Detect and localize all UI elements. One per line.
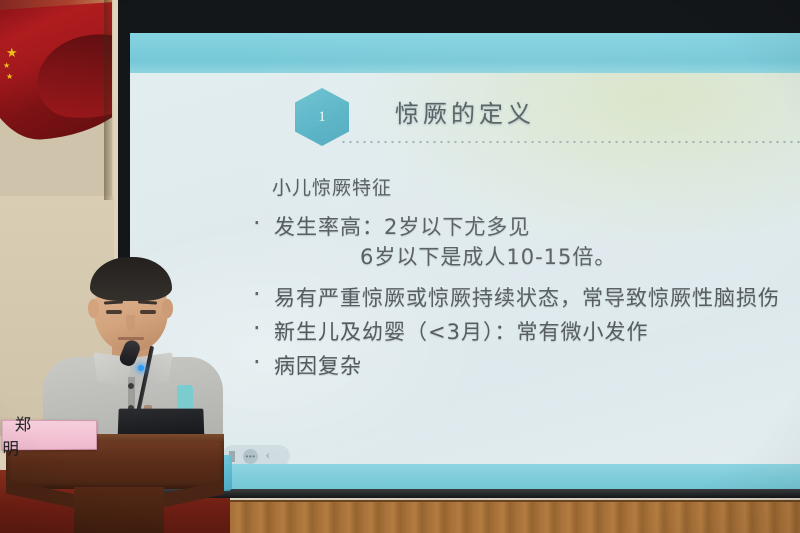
- slide-bullet-4: 病因复杂: [250, 351, 780, 381]
- slide-title: 惊厥的定义: [130, 94, 800, 129]
- slide-bullet-1-text: 发生率高：2岁以下尤多见: [274, 215, 530, 239]
- title-dotted-divider: [340, 140, 800, 144]
- flag-star-small-icon: ★: [6, 73, 13, 81]
- presenter-ear-right: [162, 299, 173, 318]
- slide-bullet-2-text: 易有严重惊厥或惊厥持续状态，常导致惊厥性脑损伤: [274, 286, 780, 310]
- lanyard-badge: [177, 385, 193, 411]
- slide-bullet-1: 发生率高：2岁以下尤多见 6岁以下是成人10-15倍。: [250, 212, 780, 272]
- presenter-nose: [126, 315, 135, 331]
- powerpoint-slide: 1 惊厥的定义 小儿惊厥特征 发生率高：2岁以下尤多见 6岁以下是成人10-15…: [130, 33, 800, 489]
- flag-star-small-icon: ★: [3, 62, 10, 70]
- slide-bullet-1-continuation: 6岁以下是成人10-15倍。: [360, 242, 780, 272]
- presenter-eye-left: [106, 310, 122, 314]
- polo-button-top: [128, 383, 134, 389]
- slide-body: 小儿惊厥特征 发生率高：2岁以下尤多见 6岁以下是成人10-15倍。 易有严重惊…: [250, 173, 780, 385]
- slide-top-band: [130, 33, 800, 73]
- microphone-led-indicator: [138, 365, 144, 371]
- podium-column: [74, 487, 164, 533]
- speaker-nameplate: 郑 明: [1, 420, 97, 451]
- presenter-eye-right: [140, 310, 156, 314]
- slide-bullet-3: 新生儿及幼婴（<3月）：常有微小发作: [250, 317, 780, 347]
- slide-title-row: 1 惊厥的定义: [130, 88, 800, 148]
- presentation-room-photo: ★ ★ ★ 1 惊厥的定义 小儿惊厥特征 发生率高：2岁以下尤多见 6岁以下是成…: [0, 0, 800, 533]
- slide-bullet-4-text: 病因复杂: [274, 354, 362, 378]
- speaker-name-label: 郑 明: [2, 411, 96, 460]
- previous-slide-icon[interactable]: ‹: [266, 450, 270, 462]
- flag-star-large-icon: ★: [6, 46, 18, 59]
- presenter-ear-left: [88, 299, 99, 318]
- slide-lead-text: 小儿惊厥特征: [272, 173, 780, 200]
- chinese-flag-mural: ★ ★ ★: [0, 0, 112, 198]
- presenter-hair: [90, 257, 172, 301]
- wood-wainscot-panel: [210, 500, 800, 533]
- more-options-icon[interactable]: •••: [243, 449, 258, 464]
- slide-bullet-3-text: 新生儿及幼婴（<3月）：常有微小发作: [274, 320, 648, 344]
- mural-edge-shadow: [104, 0, 114, 200]
- slide-bullet-2: 易有严重惊厥或惊厥持续状态，常导致惊厥性脑损伤: [250, 283, 780, 313]
